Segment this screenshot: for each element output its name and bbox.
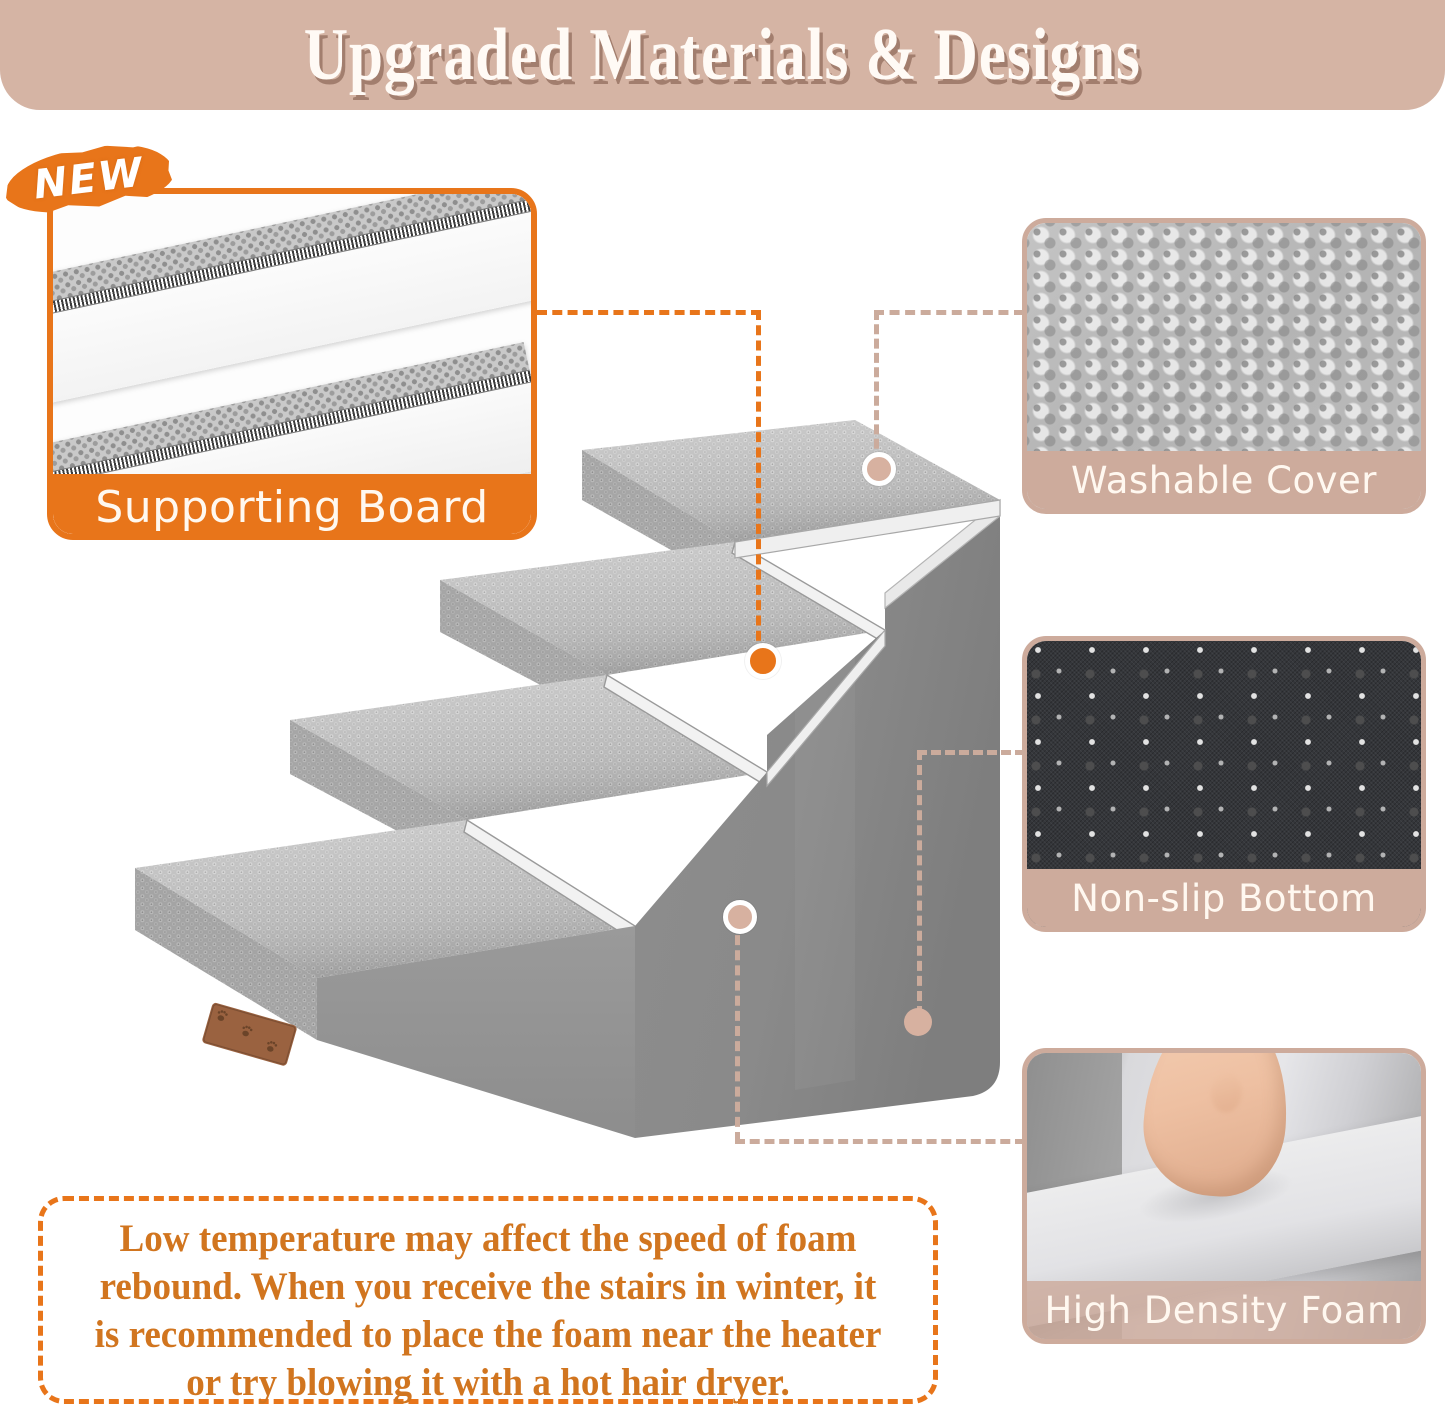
header-banner: Upgraded Materials & Designs — [0, 0, 1445, 110]
callout-panel-non-slip-bottom: Non-slip Bottom — [1022, 636, 1426, 932]
connector-line-foam-v — [735, 920, 740, 1142]
washable-cover-label: Washable Cover — [1071, 459, 1377, 502]
connector-line-washable-cover-h — [874, 310, 1024, 315]
connector-dot-washable-cover — [862, 452, 896, 486]
connector-dot-high-density-foam — [723, 900, 757, 934]
connector-dot-supporting-board — [745, 643, 781, 679]
non-slip-bottom-label: Non-slip Bottom — [1071, 877, 1376, 920]
warning-box: Low temperature may affect the speed of … — [38, 1196, 938, 1404]
non-slip-bottom-label-bar: Non-slip Bottom — [1027, 869, 1421, 927]
callout-panel-high-density-foam: High Density Foam — [1022, 1048, 1426, 1344]
high-density-foam-label: High Density Foam — [1044, 1289, 1403, 1332]
hand-knuckle — [1210, 1071, 1244, 1113]
connector-line-supporting-board-h — [537, 310, 761, 315]
connector-dot-non-slip-bottom — [904, 1008, 932, 1036]
connector-line-non-slip-h — [917, 750, 1025, 755]
callout-panel-washable-cover: Washable Cover — [1022, 218, 1426, 514]
page-title: Upgraded Materials & Designs — [304, 13, 1141, 98]
pet-stairs-svg — [95, 390, 1025, 1190]
washable-cover-label-bar: Washable Cover — [1027, 451, 1421, 509]
connector-line-washable-cover-v — [874, 310, 879, 463]
warning-text: Low temperature may affect the speed of … — [90, 1215, 886, 1407]
connector-line-foam-h — [735, 1139, 1025, 1144]
connector-line-supporting-board-v — [756, 310, 761, 656]
high-density-foam-label-bar: High Density Foam — [1027, 1281, 1421, 1339]
product-image-pet-stairs — [95, 390, 1025, 1190]
connector-line-non-slip-v — [917, 750, 922, 1016]
